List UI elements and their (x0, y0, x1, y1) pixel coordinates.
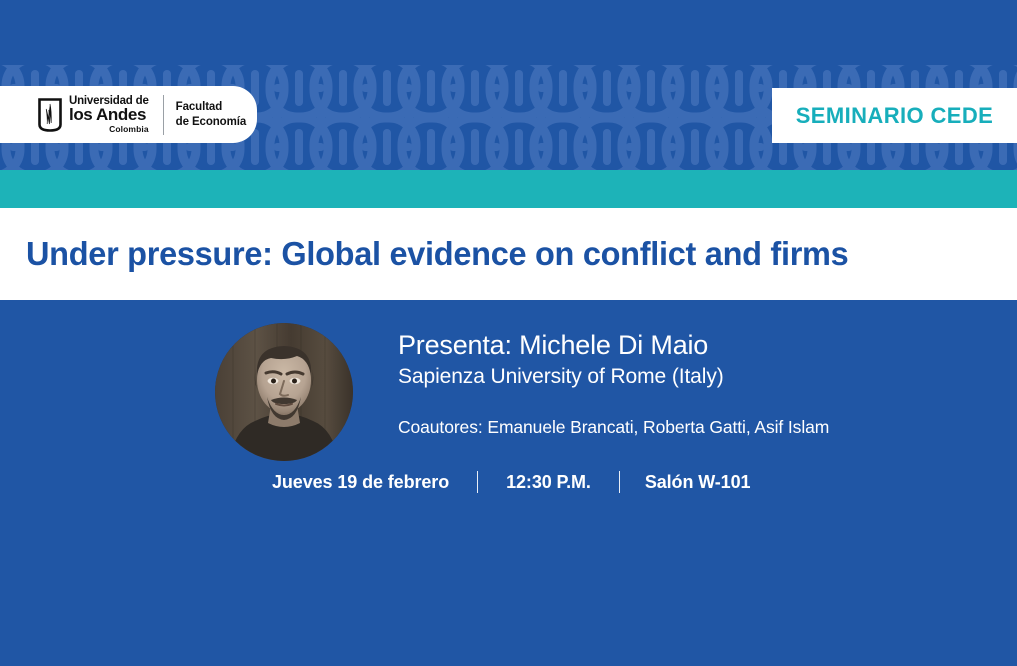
portrait-photo (215, 323, 353, 461)
title-band: Under pressure: Global evidence on confl… (0, 208, 1017, 300)
event-time: 12:30 P.M. (506, 472, 591, 493)
page-title: Under pressure: Global evidence on confl… (26, 235, 848, 273)
logo-divider (163, 95, 164, 135)
faculty-line-2: de Economía (176, 115, 246, 130)
event-separator-2 (619, 471, 620, 493)
event-room: Salón W-101 (645, 472, 751, 493)
coauthors: Coautores: Emanuele Brancati, Roberta Ga… (398, 416, 958, 439)
logo-line-losandes: los Andes (69, 106, 149, 123)
logo-wordmark: Universidad de los Andes Colombia (69, 95, 149, 134)
seminar-poster: Universidad de los Andes Colombia Facult… (0, 0, 1017, 666)
event-date: Jueves 19 de febrero (272, 472, 449, 493)
event-details: Jueves 19 de febrero 12:30 P.M. Salón W-… (272, 471, 750, 493)
faculty-line-1: Facultad (176, 100, 246, 115)
logo-line-colombia: Colombia (69, 125, 149, 134)
teal-divider-band (0, 170, 1017, 208)
seminario-cede-label: SEMINARIO CEDE (796, 103, 994, 129)
poster-header: Universidad de los Andes Colombia Facult… (0, 0, 1017, 170)
university-logo: Universidad de los Andes Colombia Facult… (0, 86, 257, 143)
event-separator-1 (477, 471, 478, 493)
seminario-cede-badge: SEMINARIO CEDE (772, 88, 1017, 143)
presenter-name: Presenta: Michele Di Maio (398, 330, 958, 362)
faculty-name: Facultad de Economía (176, 100, 246, 129)
presenter-affiliation: Sapienza University of Rome (Italy) (398, 364, 958, 390)
book-shield-icon (38, 98, 62, 132)
presenter-info: Presenta: Michele Di Maio Sapienza Unive… (398, 330, 958, 439)
avatar (215, 323, 353, 461)
